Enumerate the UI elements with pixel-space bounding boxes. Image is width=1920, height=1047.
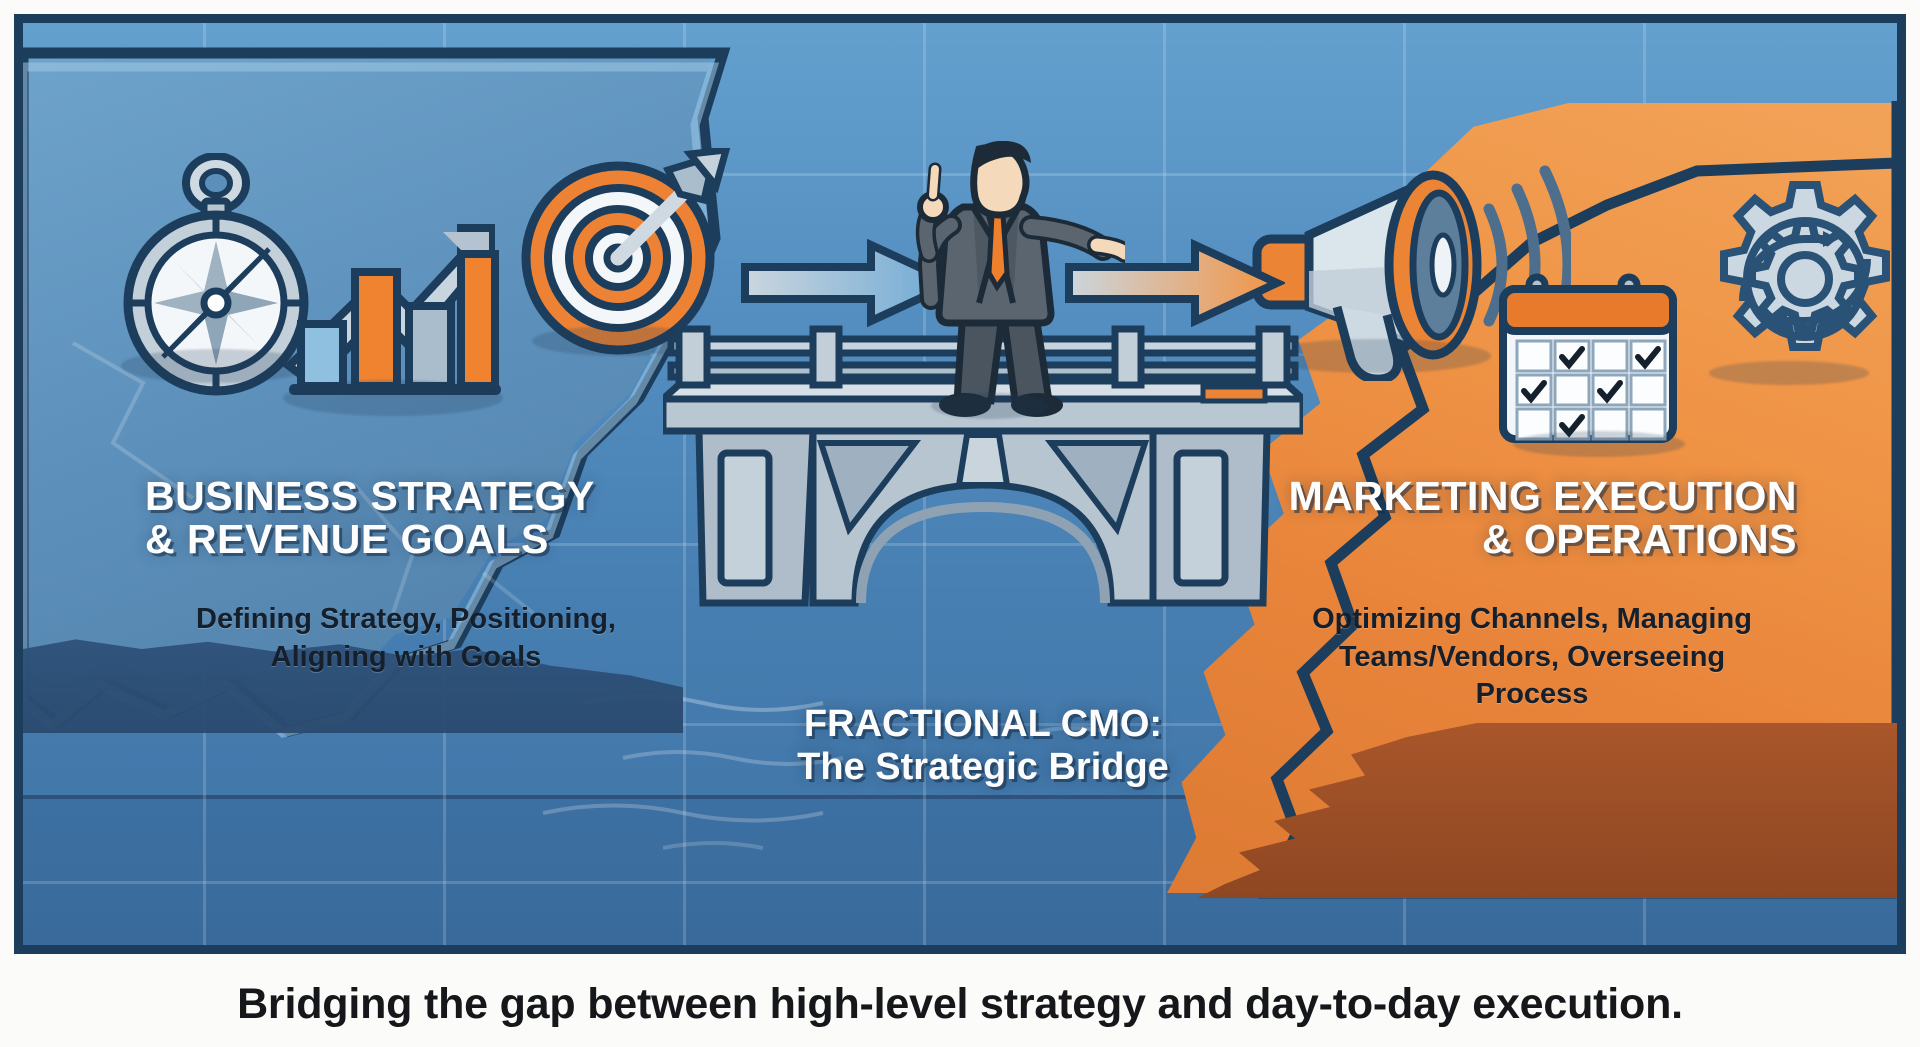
- calendar-checks-icon: [1495, 273, 1695, 453]
- right-panel-subtext: Optimizing Channels, Managing Teams/Vend…: [1287, 601, 1777, 714]
- calendar-cell: [1593, 341, 1627, 371]
- bar-chart-growth-icon: [283, 198, 503, 428]
- calendar-cell: [1631, 375, 1665, 405]
- calendar-cell: [1555, 375, 1589, 405]
- left-heading-line1: BUSINESS STRATEGY: [145, 475, 665, 518]
- center-bridge-label: FRACTIONAL CMO: The Strategic Bridge: [663, 703, 1303, 788]
- center-heading-line2: The Strategic Bridge: [663, 746, 1303, 789]
- infographic-canvas: BUSINESS STRATEGY & REVENUE GOALS Defini…: [0, 0, 1920, 1047]
- bottom-caption: Bridging the gap between high-level stra…: [0, 962, 1920, 1046]
- right-panel-heading: MARKETING EXECUTION & OPERATIONS: [1237, 475, 1797, 562]
- left-heading-line2: & REVENUE GOALS: [145, 518, 665, 561]
- left-panel-subtext: Defining Strategy, Positioning, Aligning…: [191, 601, 621, 676]
- left-panel-heading: BUSINESS STRATEGY & REVENUE GOALS: [145, 475, 665, 562]
- businessman-pointing-icon: [885, 141, 1125, 431]
- right-heading-line1: MARKETING EXECUTION: [1237, 475, 1797, 518]
- gears-icon: [1681, 173, 1906, 388]
- right-heading-line2: & OPERATIONS: [1237, 518, 1797, 561]
- calendar-cell: [1517, 341, 1551, 371]
- illustration-frame: BUSINESS STRATEGY & REVENUE GOALS Defini…: [14, 14, 1906, 954]
- center-heading-line1: FRACTIONAL CMO:: [663, 703, 1303, 746]
